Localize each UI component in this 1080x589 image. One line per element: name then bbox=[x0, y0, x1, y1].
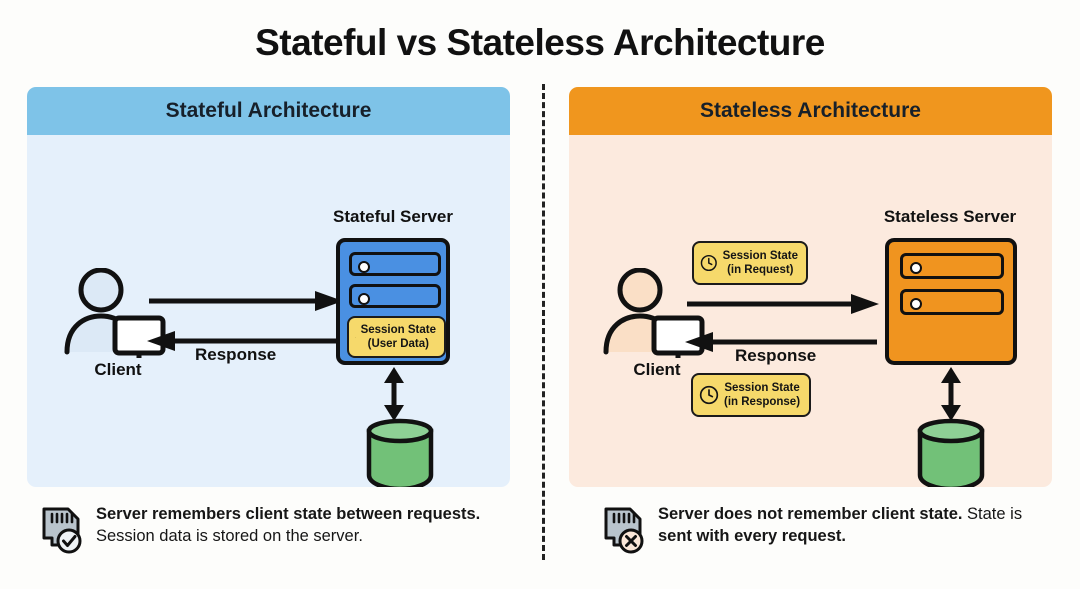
server-slot-2 bbox=[900, 289, 1004, 315]
stateless-panel-body: Client Session State (in Request) Respon… bbox=[569, 135, 1052, 487]
badge-line2: (in Response) bbox=[724, 395, 800, 409]
clock-icon bbox=[699, 385, 719, 405]
client-label: Client bbox=[63, 360, 173, 380]
session-state-badge-in-request: Session State (in Request) bbox=[692, 241, 808, 285]
footer-normal: State is bbox=[962, 505, 1022, 523]
stateless-server-box bbox=[885, 238, 1017, 365]
database-icon bbox=[912, 417, 990, 487]
server-slot-1 bbox=[900, 253, 1004, 279]
badge-text: Session State (User Data) bbox=[361, 323, 436, 351]
server-slot-1 bbox=[349, 252, 441, 276]
stateful-server-box: Session State (User Data) bbox=[336, 238, 450, 365]
response-label: Response bbox=[735, 346, 816, 366]
session-state-badge-in-response: Session State (in Response) bbox=[691, 373, 811, 417]
footer-bold: Server remembers client state between re… bbox=[96, 505, 480, 523]
badge-text: Session State (in Request) bbox=[723, 249, 798, 277]
stateful-panel-body: Client Response Stateful Server bbox=[27, 135, 510, 487]
stateless-server-label: Stateless Server bbox=[855, 207, 1045, 227]
stateful-panel-header: Stateful Architecture bbox=[27, 87, 510, 135]
footer-normal: Session data is stored on the server. bbox=[96, 527, 363, 545]
page-title: Stateful vs Stateless Architecture bbox=[0, 22, 1080, 64]
server-slot-led bbox=[358, 261, 370, 273]
badge-text: Session State (in Response) bbox=[724, 381, 800, 409]
memory-card-cross-icon bbox=[600, 505, 646, 555]
stateless-footer-text: Server does not remember client state. S… bbox=[658, 503, 1060, 548]
request-arrow bbox=[685, 293, 879, 315]
clock-icon bbox=[700, 253, 718, 273]
stateless-panel: Stateless Architecture Client Session St… bbox=[569, 87, 1052, 487]
badge-line1: Session State bbox=[361, 324, 436, 336]
stateless-panel-header: Stateless Architecture bbox=[569, 87, 1052, 135]
database-icon bbox=[361, 417, 439, 487]
badge-line2: (User Data) bbox=[361, 337, 436, 351]
footer-bold-2: sent with every request. bbox=[658, 527, 846, 545]
server-slot-2 bbox=[349, 284, 441, 308]
stateful-footer: Server remembers client state between re… bbox=[38, 503, 518, 555]
server-slot-led bbox=[910, 262, 922, 274]
stateful-panel: Stateful Architecture Client Response St… bbox=[27, 87, 510, 487]
badge-line1: Session State bbox=[723, 250, 798, 262]
session-state-badge-user-data: Session State (User Data) bbox=[347, 316, 446, 358]
server-database-arrow bbox=[383, 367, 405, 421]
panel-divider bbox=[542, 84, 545, 560]
stateful-server-label: Stateful Server bbox=[303, 207, 483, 227]
stateful-footer-text: Server remembers client state between re… bbox=[96, 503, 518, 548]
footer-bold: Server does not remember client state. bbox=[658, 505, 962, 523]
request-arrow bbox=[147, 290, 343, 312]
stateless-footer: Server does not remember client state. S… bbox=[600, 503, 1060, 555]
response-label: Response bbox=[195, 345, 276, 365]
badge-line1: Session State bbox=[724, 382, 799, 394]
clock-icon bbox=[355, 328, 356, 347]
server-slot-led bbox=[358, 293, 370, 305]
server-slot-led bbox=[910, 298, 922, 310]
server-database-arrow bbox=[940, 367, 962, 421]
memory-card-check-icon bbox=[38, 505, 84, 555]
badge-line2: (in Request) bbox=[723, 263, 798, 277]
